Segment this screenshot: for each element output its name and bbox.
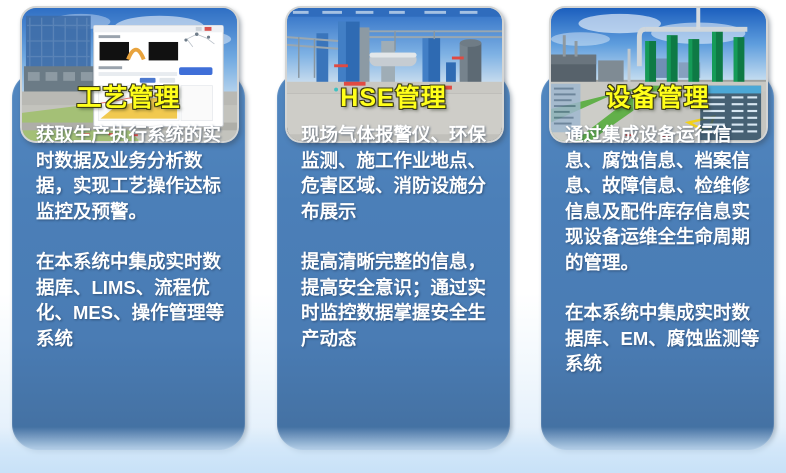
card-paragraph: 通过集成设备运行信息、腐蚀信息、档案信息、故障信息、检维修信息及配件库存信息实现… (565, 122, 761, 275)
card-paragraph: 提高清晰完整的信息，提高安全意识；通过实时监控数据掌握安全生产动态 (301, 249, 497, 351)
card-paragraph: 获取生产执行系统的实时数据及业务分析数据，实现工艺操作达标监控及预警。 (36, 122, 232, 224)
card-description: 现场气体报警仪、环保监测、施工作业地点、危害区域、消防设施分布展示 提高清晰完整… (301, 122, 497, 351)
card-title: 设备管理 (541, 78, 774, 114)
card-description: 通过集成设备运行信息、腐蚀信息、档案信息、故障信息、检维修信息及配件库存信息实现… (565, 122, 761, 377)
module-cards-stage: 工艺管理 获取生产执行系统的实时数据及业务分析数据，实现工艺操作达标监控及预警。… (0, 0, 786, 473)
card-title: HSE管理 (277, 78, 510, 114)
module-card-hse-management[interactable]: HSE管理 现场气体报警仪、环保监测、施工作业地点、危害区域、消防设施分布展示 … (277, 0, 510, 473)
module-card-process-management[interactable]: 工艺管理 获取生产执行系统的实时数据及业务分析数据，实现工艺操作达标监控及预警。… (12, 0, 245, 473)
module-card-equipment-management[interactable]: 设备管理 通过集成设备运行信息、腐蚀信息、档案信息、故障信息、检维修信息及配件库… (541, 0, 774, 473)
card-paragraph: 在本系统中集成实时数据库、LIMS、流程优化、MES、操作管理等系统 (36, 249, 232, 351)
card-description: 获取生产执行系统的实时数据及业务分析数据，实现工艺操作达标监控及预警。 在本系统… (36, 122, 232, 351)
card-paragraph: 现场气体报警仪、环保监测、施工作业地点、危害区域、消防设施分布展示 (301, 122, 497, 224)
card-title: 工艺管理 (12, 78, 245, 114)
card-paragraph: 在本系统中集成实时数据库、EM、腐蚀监测等系统 (565, 300, 761, 377)
